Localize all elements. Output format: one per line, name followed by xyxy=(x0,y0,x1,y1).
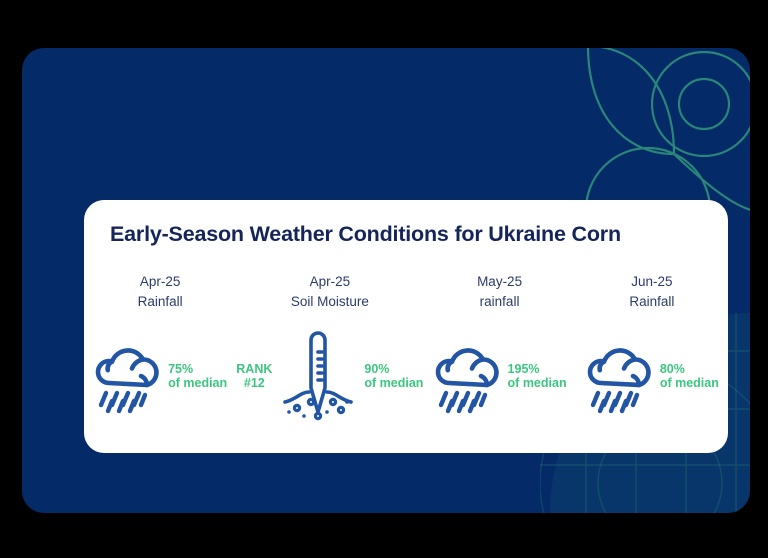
metric-body: RANK #12 xyxy=(236,328,423,424)
metric-body: 80% of median xyxy=(585,328,719,424)
column-header: Jun-25 Rainfall xyxy=(629,272,674,312)
slide-panel: Early-Season Weather Conditions for Ukra… xyxy=(22,48,750,513)
rain-cloud-icon xyxy=(585,337,657,415)
metric-value-sub: of median xyxy=(508,376,567,390)
metric-value-number: 80% xyxy=(660,362,685,376)
metric-value-sub: of median xyxy=(660,376,719,390)
metric-value-sub: of median xyxy=(364,376,423,390)
metric-column-may-rainfall: May-25 rainfall xyxy=(423,272,575,452)
metric-value: 195% of median xyxy=(508,362,567,390)
column-header: Apr-25 Soil Moisture xyxy=(291,272,369,312)
metric-value: 90% of median xyxy=(364,362,423,390)
rank-label: RANK xyxy=(236,362,272,376)
metric-value: 80% of median xyxy=(660,362,719,390)
column-metric: Rainfall xyxy=(629,292,674,312)
column-header: May-25 rainfall xyxy=(477,272,522,312)
metric-body: 195% of median xyxy=(433,328,567,424)
rank-badge: RANK #12 xyxy=(236,362,272,390)
metric-column-apr-soil-moisture: Apr-25 Soil Moisture RANK #12 xyxy=(236,272,423,452)
column-metric: Rainfall xyxy=(138,292,183,312)
soil-thermometer-icon xyxy=(275,330,361,422)
column-metric: rainfall xyxy=(477,292,522,312)
column-period: Apr-25 xyxy=(140,274,181,289)
content-card: Early-Season Weather Conditions for Ukra… xyxy=(84,200,728,453)
metric-value-number: 90% xyxy=(364,362,389,376)
metrics-row: Apr-25 Rainfall xyxy=(84,272,728,452)
column-period: Jun-25 xyxy=(631,274,672,289)
rain-cloud-icon xyxy=(93,337,165,415)
metric-body: 75% of median xyxy=(93,328,227,424)
metric-column-apr-rainfall: Apr-25 Rainfall xyxy=(84,272,236,452)
metric-value-number: 195% xyxy=(508,362,540,376)
column-metric: Soil Moisture xyxy=(291,292,369,312)
column-period: Apr-25 xyxy=(310,274,351,289)
page-title: Early-Season Weather Conditions for Ukra… xyxy=(110,222,621,247)
column-period: May-25 xyxy=(477,274,522,289)
rank-number: #12 xyxy=(236,376,272,390)
metric-value-number: 75% xyxy=(168,362,193,376)
metric-column-jun-rainfall: Jun-25 Rainfall xyxy=(576,272,728,452)
screenshot-stage: Early-Season Weather Conditions for Ukra… xyxy=(0,0,768,558)
metric-value-sub: of median xyxy=(168,376,227,390)
metric-value: 75% of median xyxy=(168,362,227,390)
rain-cloud-icon xyxy=(433,337,505,415)
column-header: Apr-25 Rainfall xyxy=(138,272,183,312)
